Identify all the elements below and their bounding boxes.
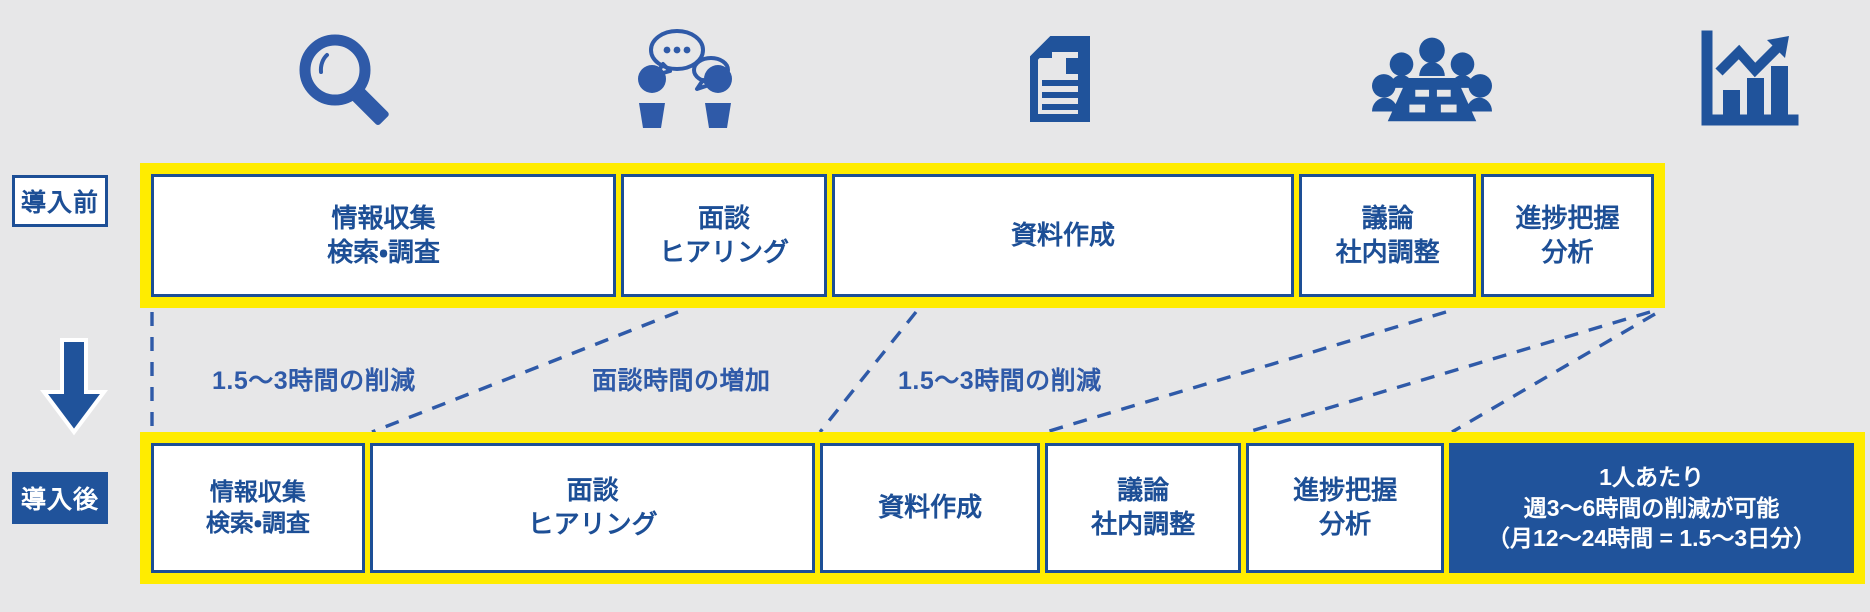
before-row: 情報収集 検索・調査 面談 ヒアリング 資料作成 議論 社内調整 進捗把握 分析 xyxy=(140,163,1665,308)
down-arrow-icon xyxy=(40,336,108,436)
savings-summary-box[interactable]: 1人あたり 週3〜6時間の削減が可能 （月12〜24時間 = 1.5〜3日分） xyxy=(1449,443,1854,573)
after-step-2-line2: ヒアリング xyxy=(528,508,658,542)
before-step-1[interactable]: 情報収集 検索・調査 xyxy=(151,174,616,297)
people-talking-icon xyxy=(628,26,748,130)
after-step-3[interactable]: 資料作成 xyxy=(820,443,1040,573)
after-step-5-line2: 分析 xyxy=(1319,508,1371,542)
magnifier-icon xyxy=(285,26,405,130)
after-step-3-line1: 資料作成 xyxy=(878,491,982,525)
row-label-after: 導入後 xyxy=(12,472,108,524)
bar-chart-growth-icon xyxy=(1690,26,1810,130)
delta-label-1: 1.5〜3時間の削減 xyxy=(212,361,416,397)
after-step-5-line1: 進捗把握 xyxy=(1293,474,1397,508)
after-step-1-line2: 検索・調査 xyxy=(206,508,310,539)
delta-label-3: 1.5〜3時間の削減 xyxy=(898,361,1102,397)
after-step-4-line1: 議論 xyxy=(1117,474,1169,508)
before-step-3[interactable]: 資料作成 xyxy=(832,174,1294,297)
after-row: 情報収集 検索・調査 面談 ヒアリング 資料作成 議論 社内調整 進捗把握 分析… xyxy=(140,432,1865,584)
before-step-1-line1: 情報収集 xyxy=(332,202,436,236)
before-step-4[interactable]: 議論 社内調整 xyxy=(1299,174,1476,297)
before-step-2[interactable]: 面談 ヒアリング xyxy=(621,174,827,297)
savings-summary-line2: 週3〜6時間の削減が可能 xyxy=(1524,493,1780,524)
before-step-1-line2: 検索・調査 xyxy=(327,236,440,270)
savings-summary-line3: （月12〜24時間 = 1.5〜3日分） xyxy=(1487,523,1816,554)
before-step-5-line2: 分析 xyxy=(1541,236,1593,270)
row-label-before: 導入前 xyxy=(12,175,108,227)
after-step-4-line2: 社内調整 xyxy=(1091,508,1195,542)
after-step-2[interactable]: 面談 ヒアリング xyxy=(370,443,815,573)
savings-summary-line1: 1人あたり xyxy=(1599,462,1704,493)
after-step-4[interactable]: 議論 社内調整 xyxy=(1045,443,1241,573)
documents-icon xyxy=(1000,26,1120,130)
before-step-5[interactable]: 進捗把握 分析 xyxy=(1481,174,1654,297)
diagram-canvas: 導入前 情報収集 検索・調査 面談 ヒアリング 資料作成 議論 社内調整 進捗把… xyxy=(0,0,1870,612)
meeting-table-icon xyxy=(1372,26,1492,130)
before-step-2-line2: ヒアリング xyxy=(659,236,789,270)
before-step-3-line1: 資料作成 xyxy=(1011,219,1115,253)
after-step-1-line1: 情報収集 xyxy=(210,477,306,508)
before-step-4-line2: 社内調整 xyxy=(1336,236,1440,270)
after-step-5[interactable]: 進捗把握 分析 xyxy=(1246,443,1444,573)
after-step-1[interactable]: 情報収集 検索・調査 xyxy=(151,443,365,573)
icon-strip xyxy=(0,0,1870,140)
before-step-4-line1: 議論 xyxy=(1362,202,1414,236)
before-step-5-line1: 進捗把握 xyxy=(1515,202,1619,236)
after-step-2-line1: 面談 xyxy=(567,474,619,508)
delta-label-2: 面談時間の増加 xyxy=(592,361,771,397)
before-step-2-line1: 面談 xyxy=(698,202,750,236)
